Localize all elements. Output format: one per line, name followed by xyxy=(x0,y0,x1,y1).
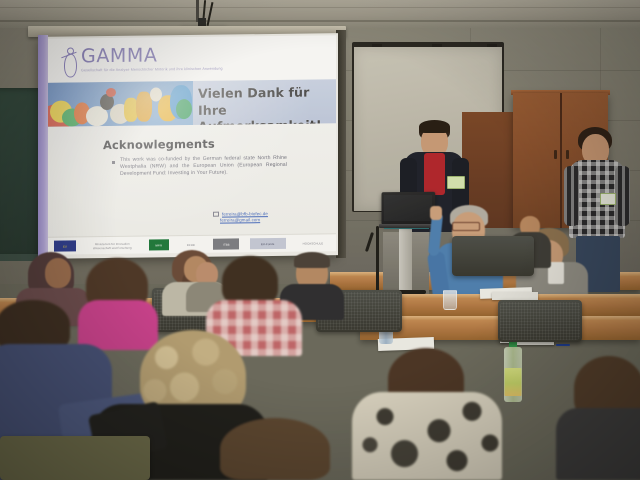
pen xyxy=(556,344,570,346)
bullet-marker xyxy=(112,160,115,163)
email-link-1[interactable]: ferreira@bfb-biofec.de xyxy=(222,211,268,217)
thanks-line-1: Vielen Dank für xyxy=(198,84,332,102)
cabinet-handle-left[interactable] xyxy=(554,150,557,159)
contact-emails: ferreira@bfb-biofec.de ferreira@gmail.co… xyxy=(213,210,333,223)
abstract-artwork xyxy=(48,81,193,127)
acknowledgments-heading: Acknowlegments xyxy=(103,137,215,152)
raised-hand xyxy=(430,206,442,220)
thanks-line-2: Ihre Aufmerksamkeit! xyxy=(198,101,332,127)
footer-logo-eu: EU xyxy=(54,240,76,251)
laptop-screen xyxy=(384,195,432,221)
whiteboard-clip xyxy=(372,44,382,47)
email-link-2[interactable]: ferreira@gmail.com xyxy=(220,217,260,222)
chair-3[interactable] xyxy=(452,236,534,276)
email-row-2: ferreira@gmail.com xyxy=(213,216,333,222)
chair-front[interactable] xyxy=(0,436,150,480)
podium-post xyxy=(399,226,412,298)
attendee-name-badge xyxy=(600,193,616,205)
presenter-name-badge xyxy=(447,176,465,189)
footer-logo-efre: EFRE xyxy=(179,239,203,250)
thank-you-text: Vielen Dank für Ihre Aufmerksamkeit! xyxy=(198,84,332,126)
walking-figure-icon xyxy=(62,47,79,78)
gamma-logo: GAMMA Gesellschaft für die Analyse Mensc… xyxy=(62,46,223,79)
cabinet-handle-right[interactable] xyxy=(566,150,569,159)
presentation-slide: GAMMA Gesellschaft für die Analyse Mensc… xyxy=(48,35,336,255)
footer-logo-ministerium: Ministerium für Innovation Wissenschaft … xyxy=(86,240,138,252)
gamma-subtitle: Gesellschaft für die Analyse Menschliche… xyxy=(81,67,223,74)
drinking-glass-2 xyxy=(443,290,457,310)
presentation-room-photo: GAMMA Gesellschaft für die Analyse Mensc… xyxy=(0,0,640,480)
whiteboard-clip-2 xyxy=(432,44,442,47)
footer-logo-itbb: ITBB xyxy=(213,238,239,249)
footer-logo-eufonds: EU-Fonds xyxy=(250,238,286,249)
footer-logo-hochschule: HOCHSCHULE xyxy=(296,237,330,248)
gamma-wordmark: GAMMA xyxy=(81,46,223,67)
juice-bottle-green xyxy=(504,340,522,402)
envelope-icon xyxy=(213,212,219,217)
slide-banner: Vielen Dank für Ihre Aufmerksamkeit! xyxy=(48,79,336,127)
acknowledgments-text: This work was co-funded by the German fe… xyxy=(120,155,287,179)
slide-header: GAMMA Gesellschaft für die Analyse Mensc… xyxy=(48,35,336,83)
footer-logo-nrw: NRW xyxy=(149,239,169,250)
whiteboard-clip-3 xyxy=(487,44,497,47)
acknowledgments-bullet: This work was co-funded by the German fe… xyxy=(112,155,287,179)
ceiling xyxy=(0,0,640,28)
eyeglasses xyxy=(452,222,480,231)
screen-left-border xyxy=(38,35,48,257)
laptop-keyboard-base[interactable] xyxy=(379,224,437,228)
cabinet-door-split xyxy=(560,93,562,228)
